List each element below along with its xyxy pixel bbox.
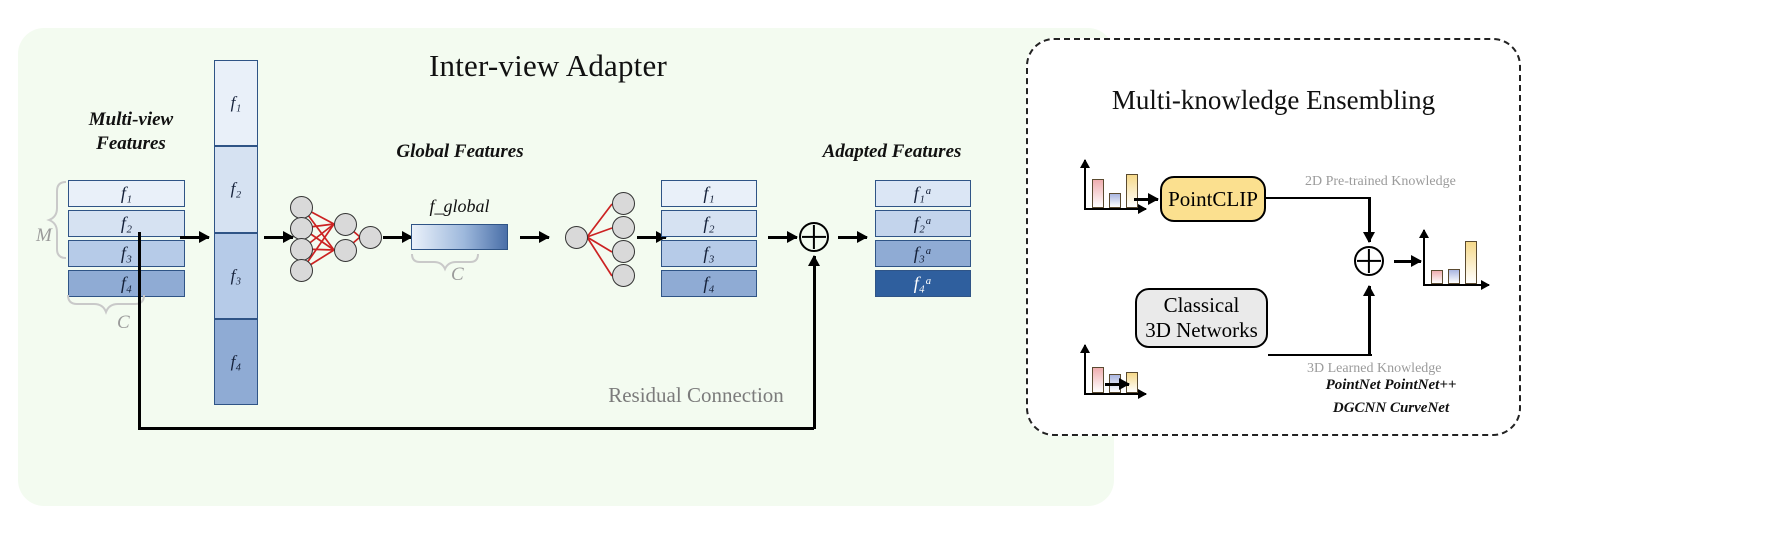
classical-label-line-2: 3D Networks — [1145, 318, 1258, 343]
page-title-multi-knowledge-ensembling: Multi-knowledge Ensembling — [1026, 85, 1521, 116]
feature-row-label: f₂ᵃ — [914, 213, 932, 234]
caption-multi-view-features: Multi-view Features — [46, 108, 216, 156]
mlp-neuron — [290, 196, 313, 219]
feature-row-label: f₁ — [703, 183, 714, 204]
mlp-neuron — [359, 226, 382, 249]
global-feature-bar — [411, 224, 508, 250]
adapted-feature-stack: f₁ᵃf₂ᵃf₃ᵃf₄ᵃ — [875, 180, 971, 300]
chart-bar — [1126, 174, 1138, 208]
arrow-stack-to-column — [180, 236, 209, 239]
arrow-restored-to-sum — [768, 236, 797, 239]
feature-row-label: f₂ — [121, 213, 132, 234]
feature-row: f₄ — [661, 270, 757, 297]
chart-y-axis — [1084, 160, 1086, 210]
caption-line-1: Multi-view — [46, 108, 216, 132]
concat-segment: f₁ — [214, 60, 258, 146]
label-f-global: f_global — [411, 196, 508, 217]
chart-bar — [1465, 241, 1477, 283]
page-title-inter-view-adapter: Inter-view Adapter — [0, 48, 1096, 84]
mlp-neuron — [290, 217, 313, 240]
sum-operator — [799, 222, 829, 252]
edge-pointclip-horizontal — [1266, 197, 1370, 199]
chart-x-axis — [1423, 284, 1489, 286]
diagram-canvas: Inter-view Adapter Multi-view Features f… — [0, 0, 1766, 550]
arrow-global-to-decoder — [520, 236, 549, 239]
feature-row: f₁ — [68, 180, 185, 207]
model-names-line-2: DGCNN CurveNet — [1296, 397, 1486, 420]
mlp-neuron — [612, 240, 635, 263]
feature-row: f₂ — [661, 210, 757, 237]
edge-pointclip-arrow-down — [1368, 197, 1371, 242]
mlp-neuron — [334, 213, 357, 236]
feature-row: f₂ — [68, 210, 185, 237]
feature-row-label: f₄ — [703, 273, 714, 294]
classical-label-line-1: Classical — [1145, 293, 1258, 318]
feature-row: f₃ — [68, 240, 185, 267]
arrow-mlp-to-global — [383, 236, 412, 239]
pointclip-label: PointCLIP — [1168, 187, 1258, 212]
arrow-column-to-mlp — [264, 236, 293, 239]
feature-row-label: f₁ᵃ — [914, 183, 932, 204]
model-names-line-1: PointNet PointNet++ — [1296, 374, 1486, 397]
feature-row-label: f₃ — [703, 243, 714, 264]
feature-row: f₂ᵃ — [875, 210, 971, 237]
chart-bar — [1092, 179, 1104, 208]
feature-row: f₁ — [661, 180, 757, 207]
concat-segment: f₂ — [214, 146, 258, 232]
mlp-neuron — [612, 216, 635, 239]
residual-vertical-left — [138, 232, 141, 429]
concat-segment-label: f₁ — [231, 93, 242, 113]
label-residual-connection: Residual Connection — [586, 383, 806, 408]
edge-classical-horizontal — [1268, 354, 1372, 356]
chart-y-axis — [1423, 230, 1425, 286]
feature-row: f₄ — [68, 270, 185, 297]
arrow-chart1-to-pointclip — [1134, 198, 1158, 201]
feature-row-label: f₄ᵃ — [914, 273, 932, 294]
mlp-neuron — [290, 259, 313, 282]
concat-segment: f₃ — [214, 233, 258, 319]
classical-3d-networks-box[interactable]: Classical 3D Networks — [1135, 288, 1268, 348]
chart-bar — [1109, 193, 1121, 208]
mlp-neuron — [334, 239, 357, 262]
feature-row-label: f₄ — [121, 273, 132, 294]
chart-classical3d-input — [1084, 345, 1146, 395]
feature-row: f₃ — [661, 240, 757, 267]
chart-x-axis — [1084, 208, 1146, 210]
mlp-neuron — [612, 192, 635, 215]
caption-line-2: Features — [46, 132, 216, 156]
feature-row-label: f₃ — [121, 243, 132, 264]
edge-classical-arrow-up — [1368, 286, 1371, 356]
chart-bar — [1431, 270, 1443, 283]
chart-bar — [1092, 367, 1104, 393]
feature-row: f₄ᵃ — [875, 270, 971, 297]
chart-bar — [1448, 269, 1460, 283]
concat-segment-label: f₂ — [231, 179, 242, 199]
label-2d-pretrained-knowledge: 2D Pre-trained Knowledge — [1305, 174, 1456, 190]
multi-view-feature-stack: f₁f₂f₃f₄ — [68, 180, 185, 300]
feature-row-label: f₃ᵃ — [914, 243, 932, 264]
residual-arrow-up — [813, 256, 816, 429]
arrow-sum-to-adapted — [838, 236, 867, 239]
residual-horizontal — [138, 427, 814, 430]
dim-label-c-global: C — [451, 264, 464, 286]
arrow-chart2-to-classical — [1105, 383, 1129, 386]
chart-pointclip-input — [1084, 160, 1146, 210]
mlp-neuron — [290, 238, 313, 261]
feature-row-label: f₁ — [121, 183, 132, 204]
restored-feature-stack: f₁f₂f₃f₄ — [661, 180, 757, 300]
ensemble-sum-operator — [1354, 246, 1384, 276]
chart-x-axis — [1084, 393, 1146, 395]
concatenated-feature-column: f₁f₂f₃f₄ — [214, 60, 258, 405]
model-names-list: PointNet PointNet++ DGCNN CurveNet — [1296, 374, 1486, 421]
concat-segment-label: f₄ — [231, 352, 242, 372]
caption-global-features: Global Features — [370, 140, 550, 164]
feature-row: f₃ᵃ — [875, 240, 971, 267]
concat-segment: f₄ — [214, 319, 258, 405]
arrow-sum-to-output-chart — [1394, 260, 1421, 263]
mlp-neuron — [612, 264, 635, 287]
chart-y-axis — [1084, 345, 1086, 395]
concat-segment-label: f₃ — [231, 266, 242, 286]
pointclip-box[interactable]: PointCLIP — [1160, 176, 1266, 222]
chart-ensembled-output — [1423, 230, 1489, 286]
dim-label-c: C — [117, 312, 130, 334]
feature-row: f₁ᵃ — [875, 180, 971, 207]
caption-adapted-features: Adapted Features — [792, 140, 992, 164]
mlp-neuron — [565, 226, 588, 249]
feature-row-label: f₂ — [703, 213, 714, 234]
dim-label-m: M — [36, 225, 52, 247]
